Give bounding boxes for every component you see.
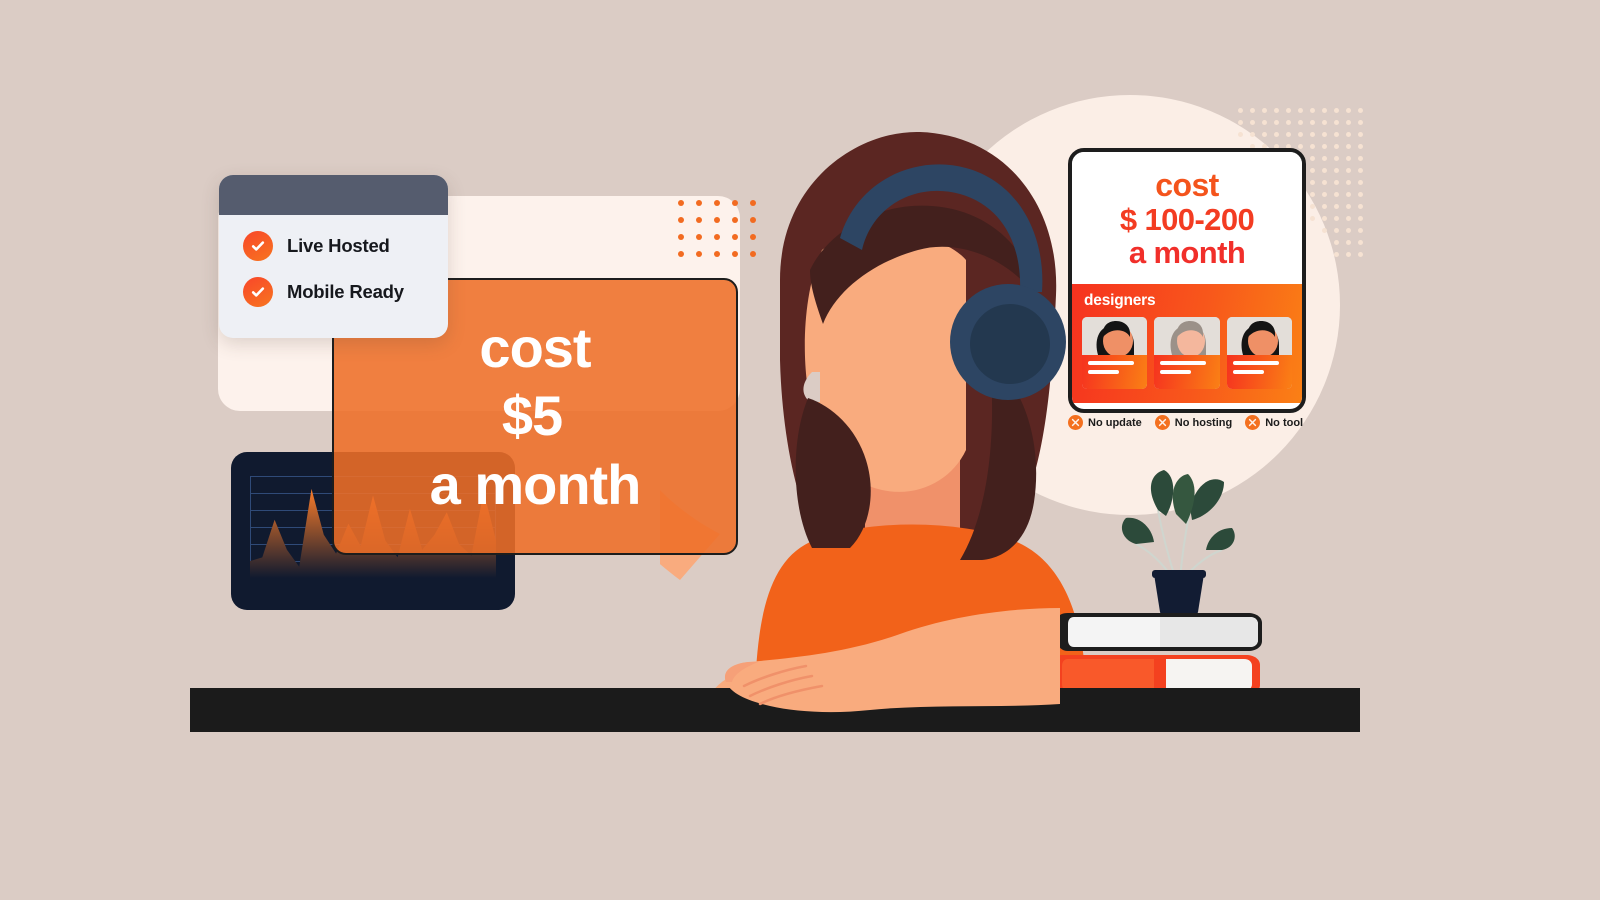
checklist-item[interactable]: Live Hosted xyxy=(243,231,448,261)
price-line-3: a month xyxy=(430,452,641,518)
card-title-bar xyxy=(219,175,448,215)
avatar xyxy=(1082,317,1147,355)
avatar xyxy=(1154,317,1219,355)
designers-section: designers xyxy=(1072,284,1302,403)
avatar-meta xyxy=(1154,355,1219,389)
designer-avatar-list xyxy=(1082,317,1292,389)
drawback-label: No update xyxy=(1088,417,1142,429)
price-line-1: cost xyxy=(479,315,590,381)
checklist-item-label: Mobile Ready xyxy=(287,281,404,303)
avatar-meta xyxy=(1227,355,1292,389)
designer-avatar-card[interactable] xyxy=(1082,317,1147,389)
drawback-item: No update xyxy=(1068,415,1142,430)
x-circle-icon xyxy=(1068,415,1083,430)
potted-plant xyxy=(1118,470,1238,620)
agency-price-line-1: cost xyxy=(1082,168,1292,203)
avatar-meta xyxy=(1082,355,1147,389)
agency-price-block: cost $ 100-200 a month xyxy=(1072,152,1302,284)
designer-avatar-card[interactable] xyxy=(1154,317,1219,389)
avatar xyxy=(1227,317,1292,355)
drawback-label: No hosting xyxy=(1175,417,1232,429)
x-circle-icon xyxy=(1245,415,1260,430)
drawbacks-list: No update No hosting No tool xyxy=(1068,415,1318,430)
drawback-item: No hosting xyxy=(1155,415,1232,430)
designers-title: designers xyxy=(1084,292,1292,310)
designer-avatar-card[interactable] xyxy=(1227,317,1292,389)
x-circle-icon xyxy=(1155,415,1170,430)
checklist-item[interactable]: Mobile Ready xyxy=(243,277,448,307)
agency-price-card[interactable]: cost $ 100-200 a month designers xyxy=(1068,148,1306,413)
check-icon xyxy=(243,231,273,261)
features-checklist[interactable]: Live Hosted Mobile Ready xyxy=(219,175,448,338)
price-line-2: $5 xyxy=(502,383,562,449)
book-stack xyxy=(1050,613,1265,695)
drawback-label: No tool xyxy=(1265,417,1303,429)
agency-price-line-3: a month xyxy=(1082,236,1292,269)
resting-arm xyxy=(700,608,1060,728)
check-icon xyxy=(243,277,273,307)
illustration-stage: cost $5 a month Live Hosted Mobile Ready… xyxy=(0,0,1600,900)
drawback-item: No tool xyxy=(1245,415,1303,430)
checklist-item-label: Live Hosted xyxy=(287,235,390,257)
agency-price-line-2: $ 100-200 xyxy=(1082,203,1292,236)
